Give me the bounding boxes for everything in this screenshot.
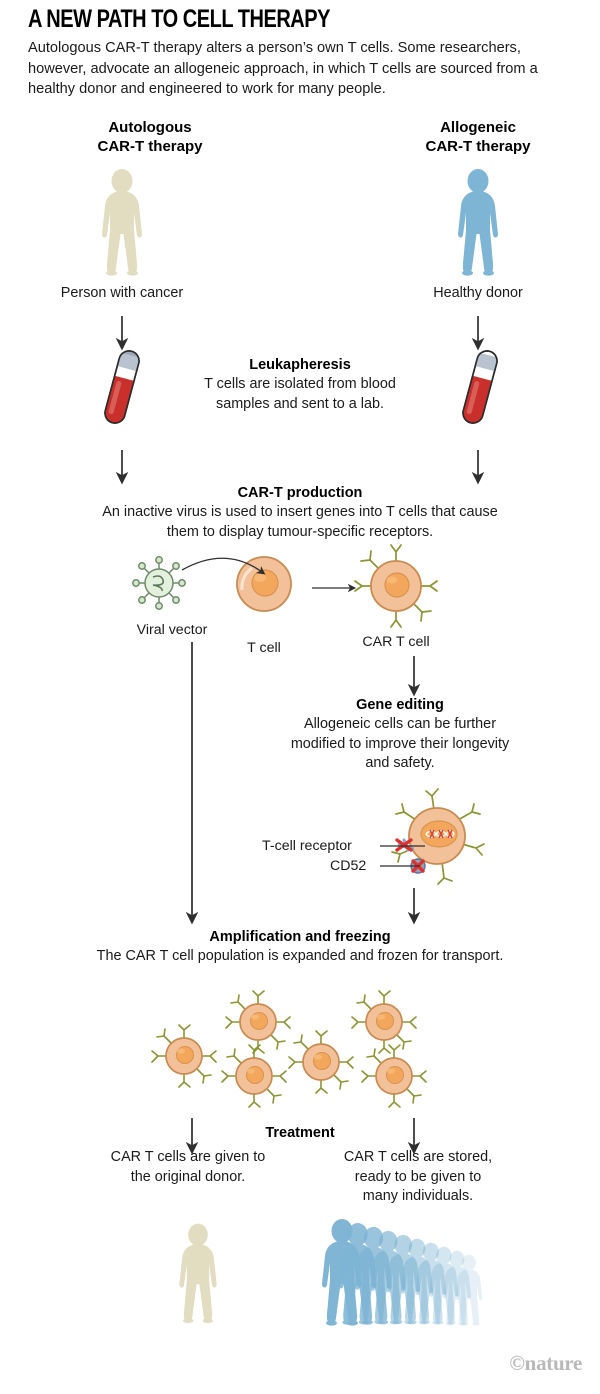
gene-editing-heading: Gene editing xyxy=(250,696,550,715)
column-heading-autologous: Autologous CAR-T therapy xyxy=(30,118,270,156)
cart-production-block: CAR-T production An inactive virus is us… xyxy=(20,484,580,542)
allogeneic-heading-line1: Allogeneic xyxy=(358,118,598,137)
label-car-t-cell: CAR T cell xyxy=(348,634,444,651)
standfirst-text: Autologous CAR-T therapy alters a person… xyxy=(28,38,580,100)
healthy-donor-figure xyxy=(448,168,508,278)
leukapheresis-body-line1: T cells are isolated from blood xyxy=(170,375,430,395)
treatment-left-line1: CAR T cells are given to xyxy=(78,1148,298,1168)
callout-label-tcr: T-cell receptor xyxy=(262,838,352,855)
leukapheresis-heading: Leukapheresis xyxy=(170,356,430,375)
infographic-root: A NEW PATH TO CELL THERAPY Autologous CA… xyxy=(0,0,600,1394)
autologous-heading-line1: Autologous xyxy=(30,118,270,137)
cart-production-body-line2: them to display tumour-specific receptor… xyxy=(20,523,580,543)
treatment-heading: Treatment xyxy=(200,1124,400,1143)
callout-label-cd52: CD52 xyxy=(330,858,366,875)
person-with-cancer-figure xyxy=(92,168,152,278)
label-viral-vector: Viral vector xyxy=(122,622,222,639)
gene-editing-body-line1: Allogeneic cells can be further xyxy=(250,715,550,735)
column-heading-allogeneic: Allogeneic CAR-T therapy xyxy=(358,118,598,156)
cd52-receptor-shape xyxy=(411,859,425,873)
page-title: A NEW PATH TO CELL THERAPY xyxy=(28,6,330,33)
gene-edited-cell-icon xyxy=(382,786,492,890)
treatment-left-line2: the original donor. xyxy=(78,1168,298,1188)
treatment-left-text: CAR T cells are given to the original do… xyxy=(78,1148,298,1187)
leukapheresis-body-line2: samples and sent to a lab. xyxy=(170,395,430,415)
label-t-cell: T cell xyxy=(224,640,304,657)
treatment-right-line2: ready to be given to xyxy=(308,1168,528,1188)
treatment-block: Treatment xyxy=(200,1124,400,1143)
amplification-heading: Amplification and freezing xyxy=(20,928,580,947)
caption-healthy-donor: Healthy donor xyxy=(378,284,578,303)
gene-editing-block: Gene editing Allogeneic cells can be fur… xyxy=(250,696,550,774)
car-t-cell-cluster xyxy=(150,988,460,1110)
gene-editing-body-line3: and safety. xyxy=(250,754,550,774)
car-t-cell-icon xyxy=(354,544,438,628)
blood-tube-right-icon xyxy=(456,348,504,426)
gene-editing-body-line2: modified to improve their longevity xyxy=(250,735,550,755)
treatment-right-line1: CAR T cells are stored, xyxy=(308,1148,528,1168)
nature-logo: ©nature xyxy=(509,1351,582,1376)
cart-production-body-line1: An inactive virus is used to insert gene… xyxy=(20,503,580,523)
leukapheresis-block: Leukapheresis T cells are isolated from … xyxy=(170,356,430,414)
amplification-body: The CAR T cell population is expanded an… xyxy=(20,947,580,967)
amplification-block: Amplification and freezing The CAR T cel… xyxy=(20,928,580,967)
cart-production-heading: CAR-T production xyxy=(20,484,580,503)
treatment-right-line3: many individuals. xyxy=(308,1187,528,1207)
blood-tube-left-icon xyxy=(98,348,146,426)
caption-person-with-cancer: Person with cancer xyxy=(22,284,222,303)
allogeneic-heading-line2: CAR-T therapy xyxy=(358,137,598,156)
recipient-crowd-figures xyxy=(312,1214,512,1330)
autologous-heading-line2: CAR-T therapy xyxy=(30,137,270,156)
treatment-right-text: CAR T cells are stored, ready to be give… xyxy=(308,1148,528,1207)
viral-vector-icon xyxy=(128,552,190,614)
t-cell-icon xyxy=(232,552,296,616)
treated-person-figure xyxy=(170,1222,226,1326)
